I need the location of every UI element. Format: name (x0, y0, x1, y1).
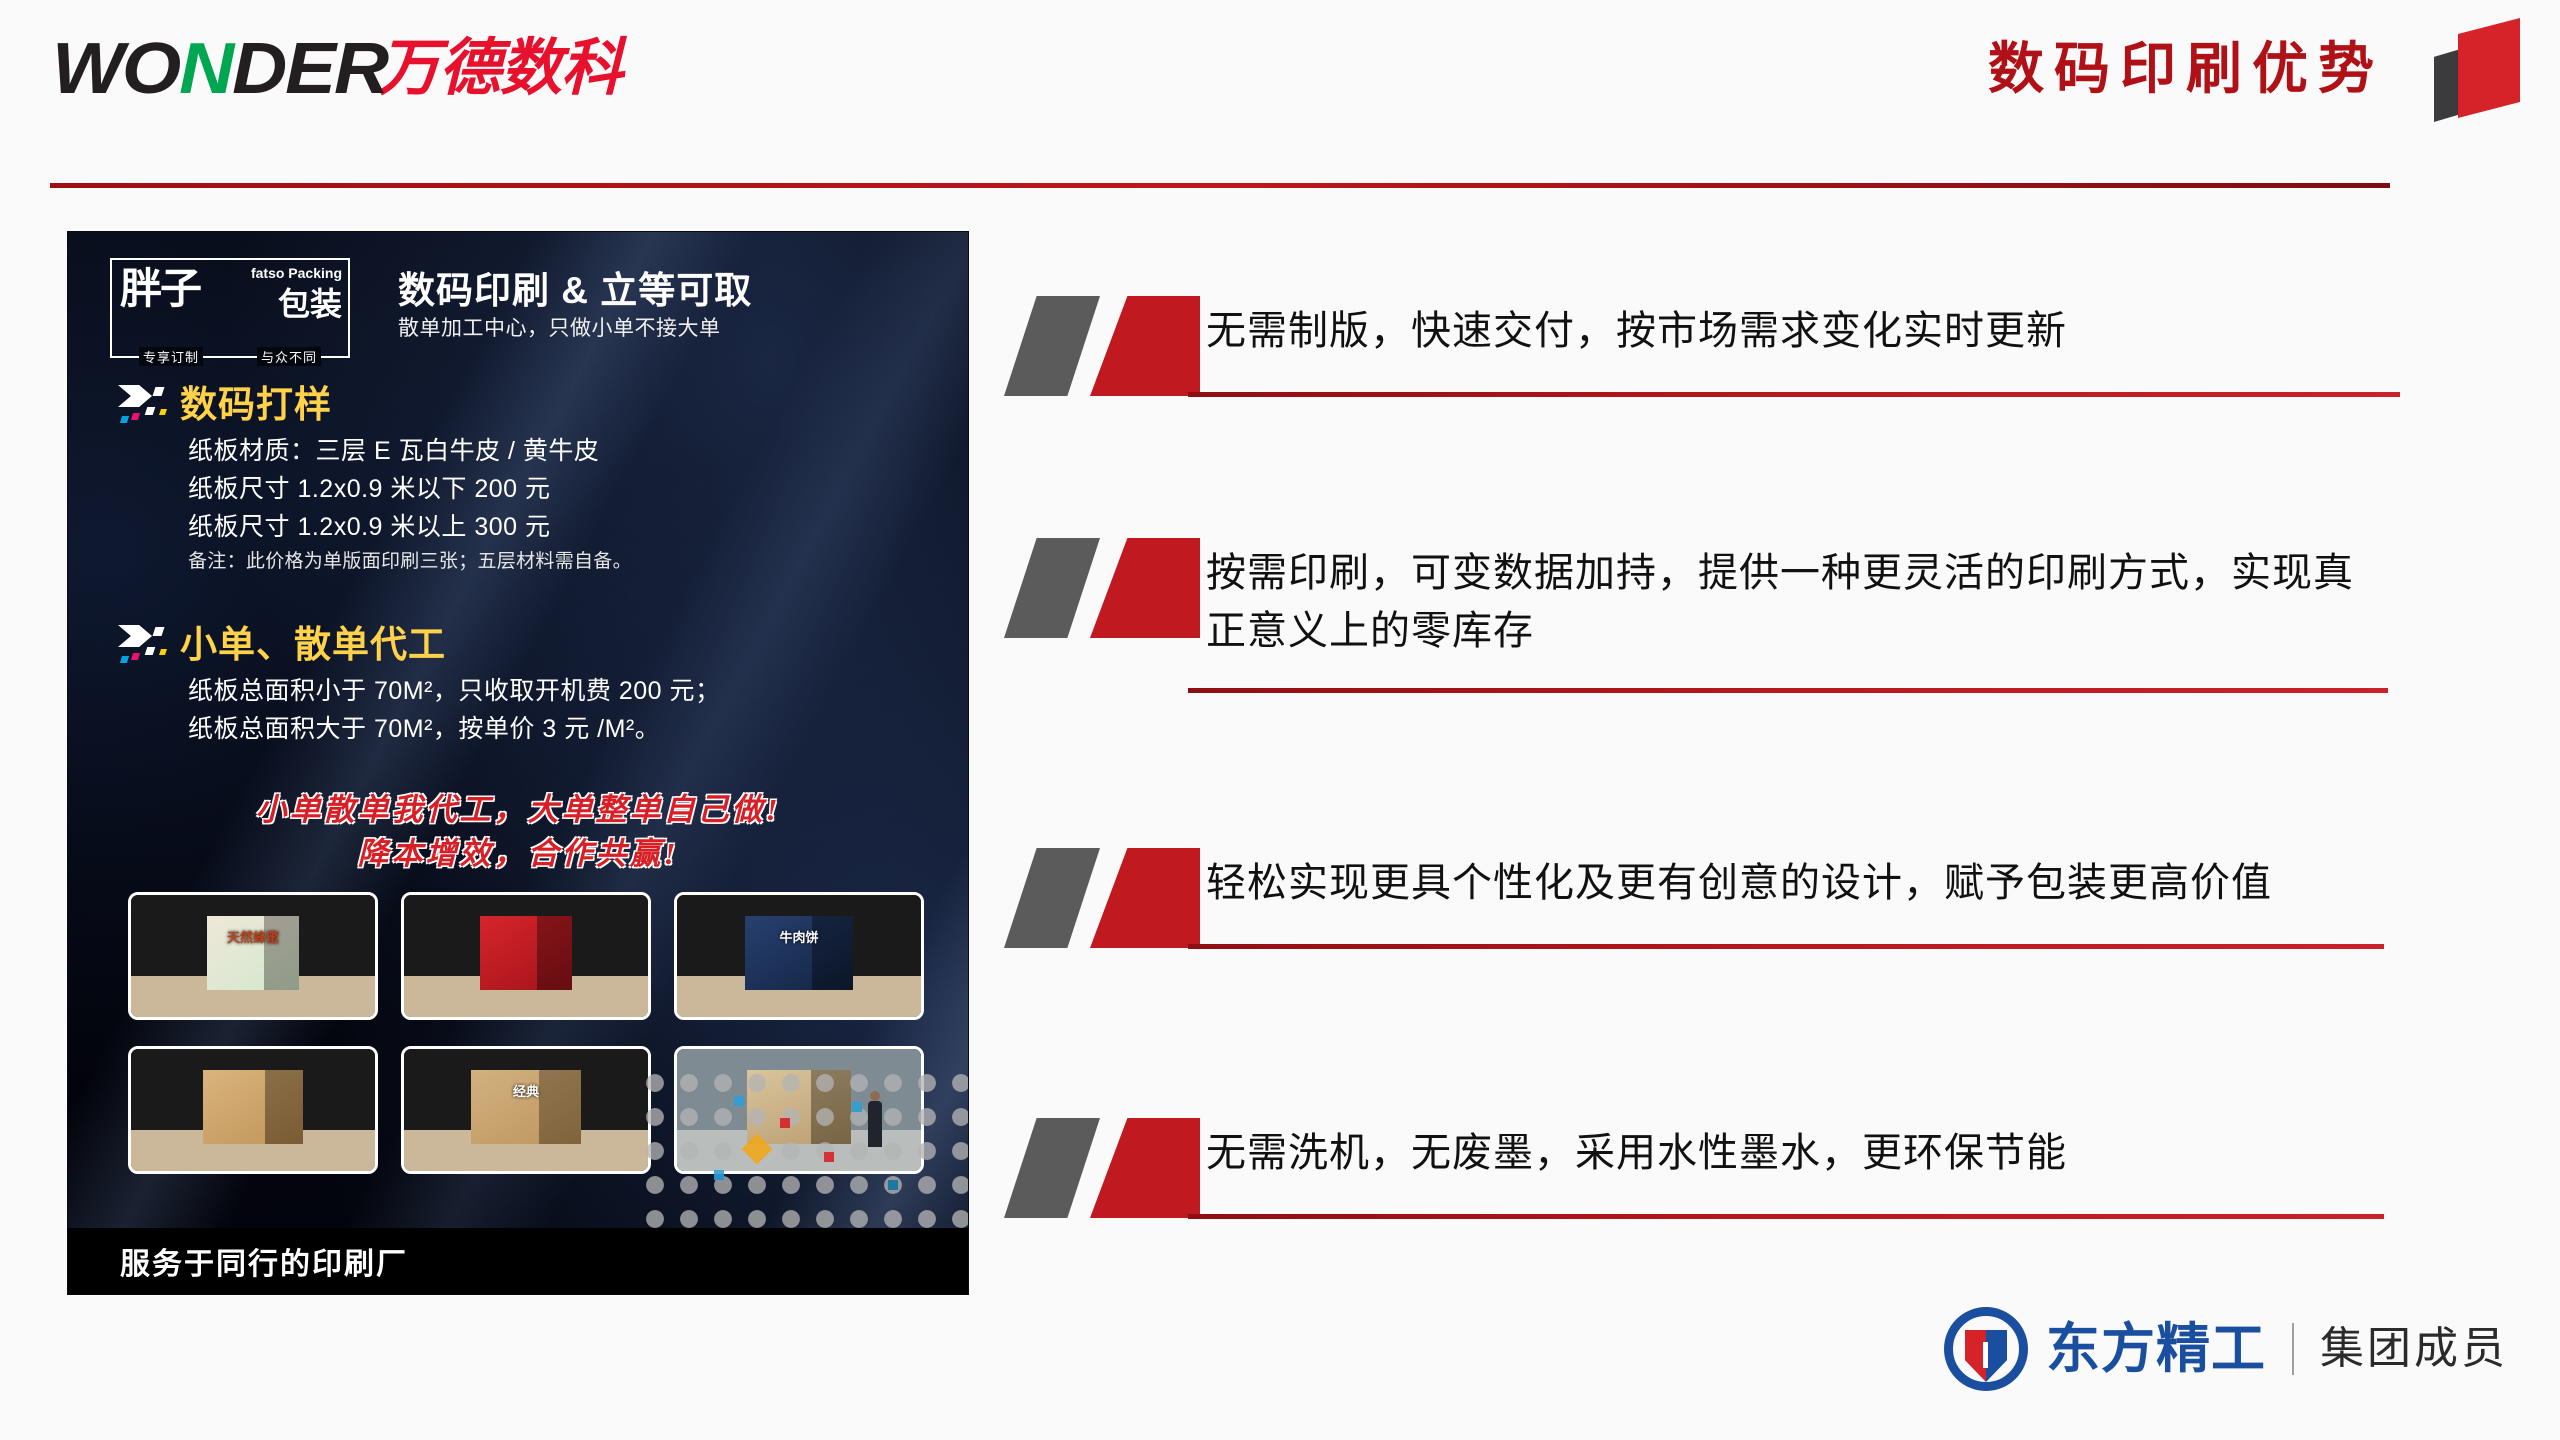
brand-latin-n: N (179, 29, 232, 109)
brand-latin-pre: WO (52, 29, 179, 109)
fatso-logo-cn-packaging: 包装 (278, 288, 342, 320)
benefit-underline (1188, 944, 2384, 949)
brand-latin-text: WONDER (52, 38, 387, 100)
section-line: 纸板尺寸 1.2x0.9 米以上 300 元 (188, 508, 936, 546)
benefit-text: 按需印刷，可变数据加持，提供一种更灵活的印刷方式，实现真正意义上的零库存 (1206, 544, 2384, 660)
marker-red-parallelogram (1090, 1118, 1200, 1218)
poster-header: 胖子 fatso Packing 包装 专享订制 与众不同 数码印刷 & 立等可… (68, 248, 968, 368)
marker-red-parallelogram (1090, 538, 1200, 638)
benefit-text: 轻松实现更具个性化及更有创意的设计，赋予包装更高价值 (1206, 854, 2384, 912)
page-title: 数码印刷优势 (1988, 34, 2384, 104)
section-title: 数码打样 (180, 383, 332, 427)
marker-gray-parallelogram (1004, 296, 1100, 396)
corner-decoration-icon (2432, 4, 2542, 124)
wonder-brand-logo: WONDER 万德数科 (52, 38, 622, 100)
benefit-underline (1188, 1214, 2384, 1219)
section-heading: 数码打样 (116, 382, 936, 428)
chevron-arrow-icon (116, 383, 180, 427)
fatso-logo-taglines: 专享订制 与众不同 (112, 347, 348, 366)
promo-poster-image: 胖子 fatso Packing 包装 专享订制 与众不同 数码印刷 & 立等可… (68, 232, 968, 1294)
brand-chinese-text: 万德数科 (378, 38, 622, 100)
product-photo (674, 1046, 924, 1174)
benefit-marker-icon (1004, 538, 1204, 638)
benefit-text: 无需洗机，无废墨，采用水性墨水，更环保节能 (1206, 1124, 2384, 1182)
section-line: 纸板总面积小于 70M²，只收取开机费 200 元； (188, 672, 936, 710)
fatso-tagline-left: 专享订制 (139, 347, 203, 366)
group-member-label: 集团成员 (2320, 1323, 2508, 1375)
product-photo-label: 经典 (404, 1081, 648, 1100)
section-line: 纸板总面积大于 70M²，按单价 3 元 /M²。 (188, 710, 936, 748)
poster-caption-text: 服务于同行的印刷厂 (120, 1239, 408, 1283)
poster-caption-bar: 服务于同行的印刷厂 (68, 1228, 968, 1294)
product-photo-grid: 天然蜂蜜 牛肉饼 经典 (128, 892, 918, 1174)
marker-red-parallelogram (1090, 296, 1200, 396)
slogan-line-2: 降本增效，合作共赢! (68, 832, 968, 876)
product-photo: 经典 (401, 1046, 651, 1174)
company-name: 东方精工 (2046, 1319, 2266, 1379)
benefit-underline (1188, 688, 2388, 693)
product-photo: 天然蜂蜜 (128, 892, 378, 1020)
header-divider (50, 183, 2390, 188)
poster-subheadline: 散单加工中心，只做小单不接大单 (398, 312, 721, 342)
section-body: 纸板总面积小于 70M²，只收取开机费 200 元； 纸板总面积大于 70M²，… (188, 672, 936, 748)
section-title: 小单、散单代工 (180, 623, 446, 667)
poster-section-digital-proofing: 数码打样 纸板材质：三层 E 瓦白牛皮 / 黄牛皮 纸板尺寸 1.2x0.9 米… (116, 382, 936, 578)
product-photo (401, 892, 651, 1020)
product-photo-label: 牛肉饼 (677, 927, 921, 946)
slogan-line-1: 小单散单我代工，大单整单自己做! (68, 788, 968, 832)
group-member-logo: 东方精工 集团成员 (1944, 1304, 2508, 1394)
product-photo-label: 天然蜂蜜 (131, 927, 375, 946)
section-note: 备注：此价格为单版面印刷三张；五层材料需自备。 (188, 546, 936, 578)
section-line: 纸板尺寸 1.2x0.9 米以下 200 元 (188, 470, 936, 508)
fatso-packing-logo: 胖子 fatso Packing 包装 专享订制 与众不同 (110, 258, 350, 358)
product-photo: 牛肉饼 (674, 892, 924, 1020)
section-line: 纸板材质：三层 E 瓦白牛皮 / 黄牛皮 (188, 432, 936, 470)
benefit-marker-icon (1004, 1118, 1204, 1218)
corner-red-block (2458, 18, 2520, 118)
brand-latin-post: DER (232, 29, 387, 109)
benefit-marker-icon (1004, 848, 1204, 948)
footer-divider (2292, 1323, 2294, 1375)
poster-headline: 数码印刷 & 立等可取 (398, 260, 752, 314)
marker-gray-parallelogram (1004, 538, 1100, 638)
poster-section-small-order-oem: 小单、散单代工 纸板总面积小于 70M²，只收取开机费 200 元； 纸板总面积… (116, 622, 936, 748)
benefit-text: 无需制版，快速交付，按市场需求变化实时更新 (1206, 302, 2384, 360)
product-photo (128, 1046, 378, 1174)
fatso-logo-cn-name: 胖子 (120, 268, 200, 310)
fatso-tagline-right: 与众不同 (257, 347, 321, 366)
marker-gray-parallelogram (1004, 848, 1100, 948)
benefit-underline (1188, 392, 2400, 397)
dongfang-shield-icon (1944, 1307, 2028, 1391)
poster-slogan: 小单散单我代工，大单整单自己做! 降本增效，合作共赢! (68, 788, 968, 876)
chevron-arrow-icon (116, 623, 180, 667)
fatso-logo-en-name: fatso Packing (251, 266, 342, 281)
benefit-marker-icon (1004, 296, 1204, 396)
marker-gray-parallelogram (1004, 1118, 1100, 1218)
marker-red-parallelogram (1090, 848, 1200, 948)
section-heading: 小单、散单代工 (116, 622, 936, 668)
section-body: 纸板材质：三层 E 瓦白牛皮 / 黄牛皮 纸板尺寸 1.2x0.9 米以下 20… (188, 432, 936, 578)
page-header: WONDER 万德数科 数码印刷优势 (0, 0, 2560, 190)
